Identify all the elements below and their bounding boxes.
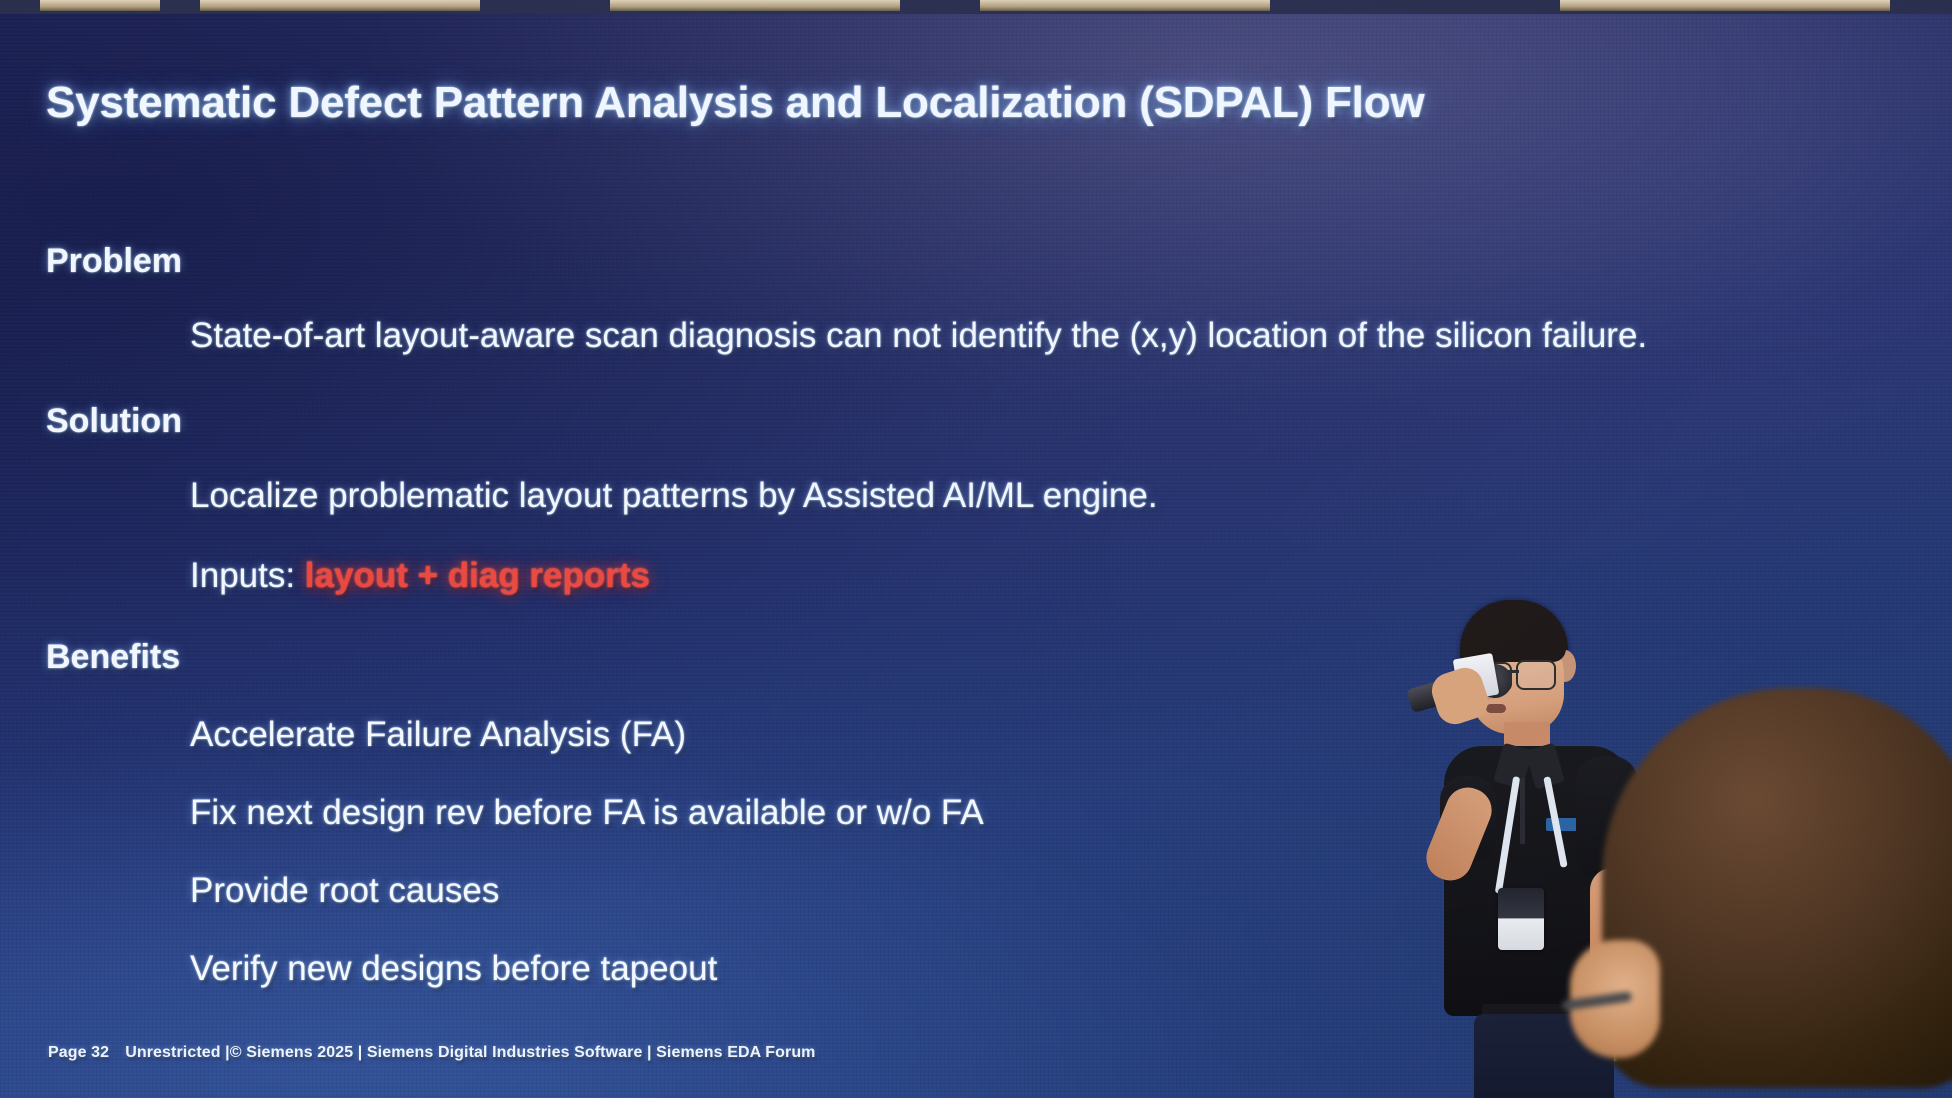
page-number: Page 32 bbox=[48, 1044, 109, 1061]
section-heading-benefits: Benefits bbox=[46, 638, 180, 677]
inputs-label: Inputs: bbox=[190, 556, 305, 595]
foreground-audience-head bbox=[1562, 688, 1952, 1098]
ceiling-panel-strip bbox=[0, 0, 1952, 14]
glasses-right-lens bbox=[1516, 660, 1556, 690]
slide-footer: Page 32Unrestricted |© Siemens 2025 | Si… bbox=[48, 1044, 816, 1062]
inputs-value-highlight: layout + diag reports bbox=[305, 556, 650, 595]
footer-legal-text: Unrestricted |© Siemens 2025 | Siemens D… bbox=[125, 1044, 815, 1061]
bullet-problem-1: State-of-art layout-aware scan diagnosis… bbox=[190, 316, 1647, 356]
ceiling-panel bbox=[1560, 0, 1890, 11]
bullet-benefits-4: Verify new designs before tapeout bbox=[190, 949, 717, 989]
section-heading-solution: Solution bbox=[46, 402, 182, 441]
bullet-benefits-2: Fix next design rev before FA is availab… bbox=[190, 793, 984, 833]
ceiling-panel bbox=[200, 0, 480, 11]
ceiling-panel bbox=[610, 0, 900, 11]
bullet-benefits-1: Accelerate Failure Analysis (FA) bbox=[190, 715, 686, 755]
bullet-benefits-3: Provide root causes bbox=[190, 871, 499, 911]
slide-title: Systematic Defect Pattern Analysis and L… bbox=[46, 78, 1424, 128]
bullet-solution-1: Localize problematic layout patterns by … bbox=[190, 476, 1158, 516]
ceiling-panel bbox=[980, 0, 1270, 11]
polo-placket bbox=[1520, 778, 1525, 844]
presenter-mouth bbox=[1486, 704, 1506, 713]
section-heading-problem: Problem bbox=[46, 242, 182, 281]
conference-badge bbox=[1498, 888, 1544, 950]
screenshot-root: Systematic Defect Pattern Analysis and L… bbox=[0, 0, 1952, 1098]
bullet-solution-inputs: Inputs: layout + diag reports bbox=[190, 556, 650, 596]
ceiling-panel bbox=[40, 0, 160, 11]
